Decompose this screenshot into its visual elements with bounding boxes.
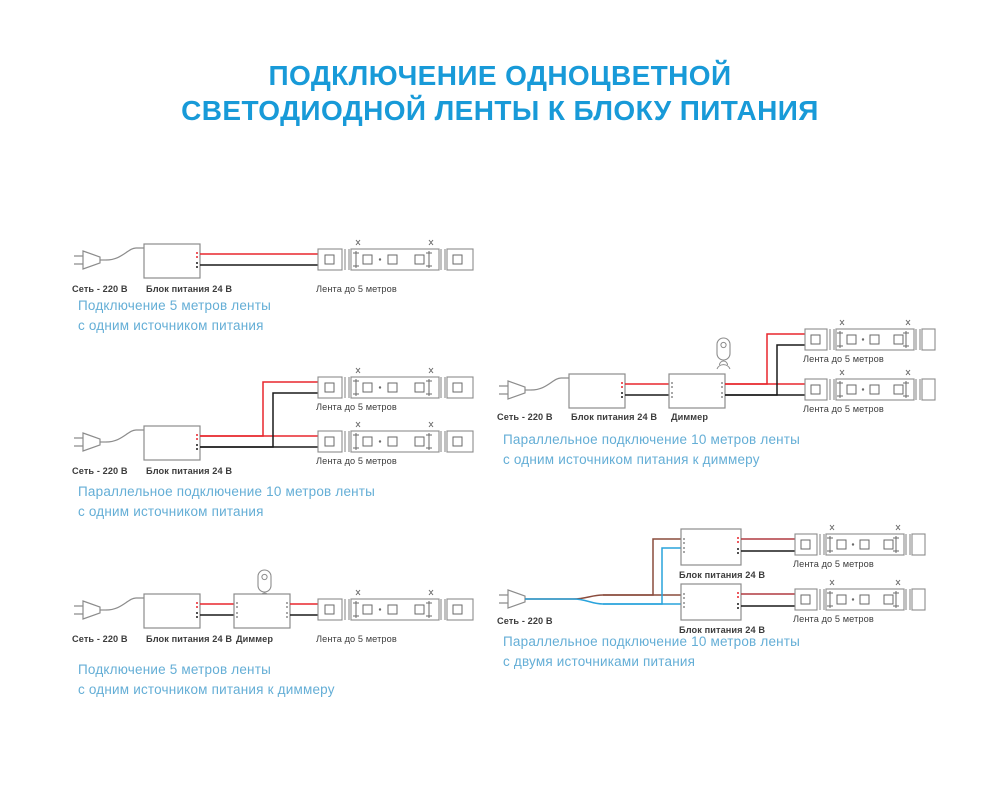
mains-cable xyxy=(106,430,144,442)
diagram-4: Лента до 5 метров Сеть - 220 В Блок пита… xyxy=(495,318,935,418)
power-supply-box xyxy=(681,584,741,620)
dimmer-box xyxy=(669,374,725,408)
label-led-strip: Лента до 5 метров xyxy=(803,404,884,414)
label-led-strip: Лента до 5 метров xyxy=(316,402,397,412)
power-supply-box xyxy=(144,426,200,460)
label-power-supply: Блок питания 24 В xyxy=(146,466,232,476)
label-dimmer: Диммер xyxy=(236,634,273,644)
power-supply-box xyxy=(144,244,200,278)
page-title-line1: ПОДКЛЮЧЕНИЕ ОДНОЦВЕТНОЙ xyxy=(0,58,1000,93)
wire-negative-branch xyxy=(200,393,318,447)
diagram-4-schematic xyxy=(495,318,935,418)
caption-line2: с двумя источниками питания xyxy=(503,652,800,672)
mains-plug-icon xyxy=(499,381,531,399)
mains-plug-icon xyxy=(499,590,525,608)
mains-cable xyxy=(106,598,144,610)
mains-plug-icon xyxy=(74,601,106,619)
mains-plug-icon xyxy=(74,251,106,269)
label-dimmer: Диммер xyxy=(671,412,708,422)
caption-line1: Подключение 5 метров ленты xyxy=(78,296,271,316)
page-title: ПОДКЛЮЧЕНИЕ ОДНОЦВЕТНОЙ СВЕТОДИОДНОЙ ЛЕН… xyxy=(0,58,1000,128)
caption-line2: с одним источником питания к диммеру xyxy=(503,450,800,470)
led-strip xyxy=(805,370,935,400)
caption-line1: Параллельное подключение 10 метров ленты xyxy=(78,482,375,502)
diagram-2-schematic xyxy=(70,362,490,472)
power-supply-box xyxy=(681,529,741,565)
mains-plug-icon xyxy=(74,433,106,451)
led-strip xyxy=(318,590,473,620)
diagram-1-caption: Подключение 5 метров ленты с одним источ… xyxy=(78,296,271,336)
diagram-4-caption: Параллельное подключение 10 метров ленты… xyxy=(503,430,800,470)
label-mains: Сеть - 220 В xyxy=(497,616,553,626)
label-led-strip: Лента до 5 метров xyxy=(793,614,874,624)
diagram-5: Блок питания 24 В Лента до 5 метров Сеть… xyxy=(495,520,935,630)
caption-line1: Параллельное подключение 10 метров ленты xyxy=(503,430,800,450)
label-mains: Сеть - 220 В xyxy=(72,284,128,294)
label-led-strip: Лента до 5 метров xyxy=(793,559,874,569)
caption-line2: с одним источником питания xyxy=(78,502,375,522)
diagram-5-caption: Параллельное подключение 10 метров ленты… xyxy=(503,632,800,672)
signal-waves xyxy=(717,361,730,369)
label-mains: Сеть - 220 В xyxy=(72,466,128,476)
wire-negative-branch xyxy=(725,345,805,395)
led-strip xyxy=(318,368,473,398)
mains-cable xyxy=(106,248,144,260)
led-strip xyxy=(318,240,473,270)
poster-root: ПОДКЛЮЧЕНИЕ ОДНОЦВЕТНОЙ СВЕТОДИОДНОЙ ЛЕН… xyxy=(0,0,1000,800)
diagram-2-caption: Параллельное подключение 10 метров ленты… xyxy=(78,482,375,522)
wire-positive-branch xyxy=(200,382,318,436)
led-strip xyxy=(318,422,473,452)
label-led-strip: Лента до 5 метров xyxy=(316,456,397,466)
label-led-strip: Лента до 5 метров xyxy=(803,354,884,364)
diagram-3-schematic xyxy=(70,568,490,638)
label-power-supply: Блок питания 24 В xyxy=(146,634,232,644)
led-strip xyxy=(805,320,935,350)
diagram-3-caption: Подключение 5 метров ленты с одним источ… xyxy=(78,660,335,700)
label-mains: Сеть - 220 В xyxy=(497,412,553,422)
caption-line1: Подключение 5 метров ленты xyxy=(78,660,335,680)
led-strip xyxy=(795,525,925,555)
dimmer-box xyxy=(234,594,290,628)
label-power-supply: Блок питания 24 В xyxy=(571,412,657,422)
remote-control-icon xyxy=(717,338,730,369)
diagram-1: Сеть - 220 В Блок питания 24 В Лента до … xyxy=(70,232,490,292)
diagram-3: Сеть - 220 В Блок питания 24 В Диммер Ле… xyxy=(70,568,490,638)
label-led-strip: Лента до 5 метров xyxy=(316,284,397,294)
mains-cable xyxy=(531,378,569,390)
label-power-supply: Блок питания 24 В xyxy=(146,284,232,294)
caption-line1: Параллельное подключение 10 метров ленты xyxy=(503,632,800,652)
wire-live-branch xyxy=(525,539,681,599)
power-supply-box xyxy=(144,594,200,628)
diagram-2: Лента до 5 метров Сеть - 220 В Блок пита… xyxy=(70,362,490,472)
page-title-line2: СВЕТОДИОДНОЙ ЛЕНТЫ К БЛОКУ ПИТАНИЯ xyxy=(0,93,1000,128)
label-power-supply: Блок питания 24 В xyxy=(679,570,765,580)
label-led-strip: Лента до 5 метров xyxy=(316,634,397,644)
diagram-1-schematic xyxy=(70,232,490,292)
led-strip xyxy=(795,580,925,610)
label-mains: Сеть - 220 В xyxy=(72,634,128,644)
caption-line2: с одним источником питания к диммеру xyxy=(78,680,335,700)
wire-positive-branch xyxy=(725,334,805,384)
caption-line2: с одним источником питания xyxy=(78,316,271,336)
power-supply-box xyxy=(569,374,625,408)
